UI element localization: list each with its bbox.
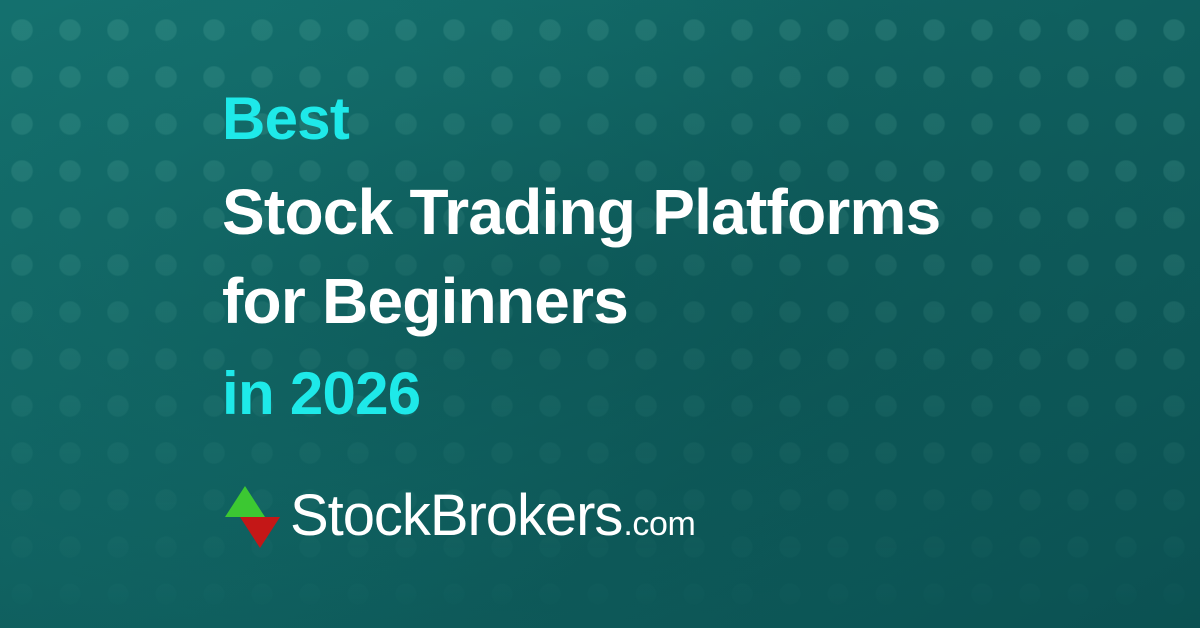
banner-content: Best Stock Trading Platforms for Beginne… [222,0,1162,628]
logo-name-text: StockBrokers [290,487,622,545]
headline-line-1: Stock Trading Platforms [222,180,941,244]
stockbrokers-logo[interactable]: StockBrokers .com [222,478,695,554]
headline-year: in 2026 [222,364,420,424]
headline-eyebrow: Best [222,89,349,149]
triangle-up-icon [225,486,265,517]
logo-wordmark: StockBrokers .com [290,487,695,545]
logo-mark [222,481,276,551]
hero-banner: Best Stock Trading Platforms for Beginne… [0,0,1200,628]
logo-tld-text: .com [623,507,695,541]
triangle-down-icon [240,517,280,548]
headline-line-2: for Beginners [222,269,628,333]
